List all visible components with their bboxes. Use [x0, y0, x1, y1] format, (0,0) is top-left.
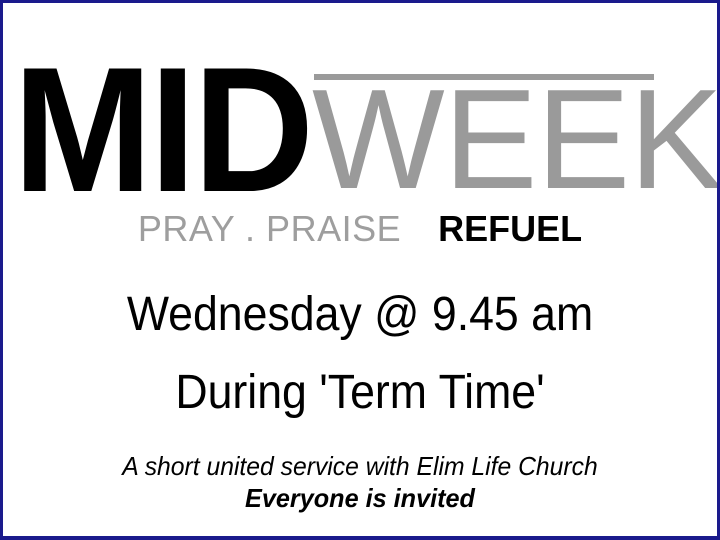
tagline-pray-praise: PRAY . PRAISE: [138, 208, 401, 249]
invitation-line: Everyone is invited: [14, 482, 707, 514]
logo-wordmark: MID WEEK: [3, 3, 717, 203]
schedule-line: Wednesday @ 9.45 am: [28, 287, 692, 343]
midweek-logo: MID WEEK PRAY . PRAISE REFUEL: [3, 3, 717, 261]
logo-word-week: WEEK: [312, 78, 720, 203]
presentation-slide: MID WEEK PRAY . PRAISE REFUEL Wednesday …: [0, 0, 720, 540]
logo-week-group: WEEK: [312, 62, 720, 203]
service-description-line: A short united service with Elim Life Ch…: [21, 450, 699, 482]
tagline-refuel: REFUEL: [438, 208, 582, 249]
logo-tagline: PRAY . PRAISE REFUEL: [3, 208, 717, 250]
logo-word-mid: MID: [13, 57, 311, 203]
period-line: During 'Term Time': [28, 365, 692, 421]
